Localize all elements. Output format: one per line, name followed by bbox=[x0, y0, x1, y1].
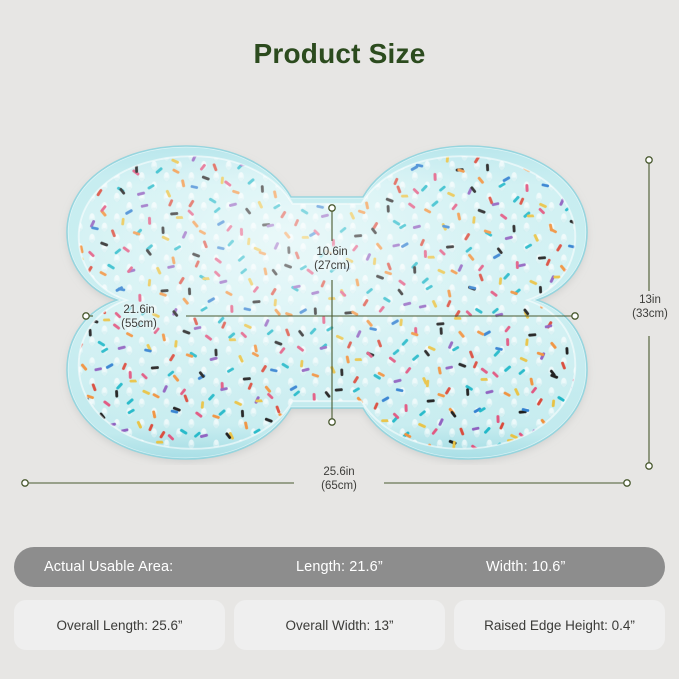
usable-area-bar: Actual Usable Area: Length: 21.6” Width:… bbox=[14, 547, 665, 587]
spec-card-overall-length: Overall Length: 25.6” bbox=[14, 600, 225, 650]
spec-card-overall-width: Overall Width: 13” bbox=[234, 600, 445, 650]
usable-length-inches: 21.6in bbox=[123, 304, 154, 316]
overall-height-inches: 13in bbox=[639, 294, 661, 306]
overall-length-inches: 25.6in bbox=[323, 466, 354, 478]
dimension-label-overall-height: 13in (33cm) bbox=[621, 293, 679, 321]
overall-length-cm: (65cm) bbox=[296, 479, 382, 493]
usable-area-length: Length: 21.6” bbox=[296, 559, 486, 575]
usable-length-cm: (55cm) bbox=[96, 317, 182, 331]
dimension-label-overall-length: 25.6in (65cm) bbox=[296, 465, 382, 493]
spec-card-raised-edge-height: Raised Edge Height: 0.4” bbox=[454, 600, 665, 650]
usable-area-width: Width: 10.6” bbox=[486, 559, 646, 575]
usable-width-cm: (27cm) bbox=[289, 259, 375, 273]
page-title: Product Size bbox=[0, 38, 679, 70]
overall-height-cm: (33cm) bbox=[621, 307, 679, 321]
product-illustration: 10.6in (27cm) 21.6in (55cm) 13in (33cm) … bbox=[0, 128, 679, 508]
dimension-label-usable-length: 21.6in (55cm) bbox=[96, 303, 182, 331]
usable-width-inches: 10.6in bbox=[316, 246, 347, 258]
usable-area-title: Actual Usable Area: bbox=[44, 559, 296, 575]
spec-card-row: Overall Length: 25.6” Overall Width: 13”… bbox=[14, 600, 665, 650]
dimension-label-usable-width: 10.6in (27cm) bbox=[289, 245, 375, 273]
